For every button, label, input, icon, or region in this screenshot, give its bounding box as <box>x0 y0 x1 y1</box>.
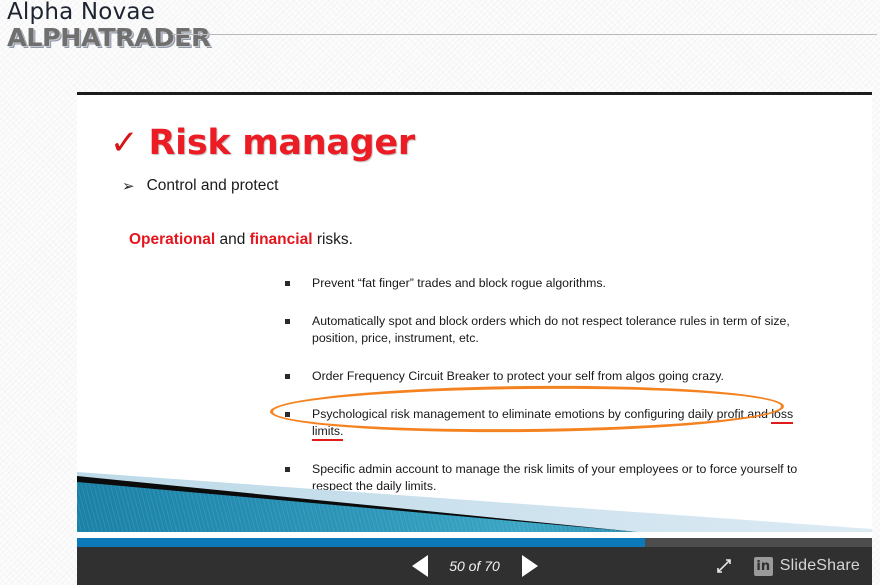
page-counter: 50 of 70 <box>446 558 504 574</box>
logo-top-text: Alpha Novae <box>7 1 206 23</box>
linkedin-icon: in <box>754 557 773 576</box>
logo-bottom-text: ALPHATRADER <box>7 25 210 50</box>
list-item-text: Prevent “fat finger” trades and block ro… <box>312 275 805 292</box>
slide-canvas[interactable]: ✓ Risk manager ➢ Control and protect Ope… <box>77 92 872 547</box>
slide-progress-fill <box>77 538 645 547</box>
previous-slide-icon[interactable] <box>412 555 428 577</box>
toolbar-right-group: in SlideShare <box>716 547 860 585</box>
list-item-text-plain: Psychological risk management to elimina… <box>312 407 771 421</box>
risks-operational: Operational <box>129 231 215 248</box>
list-item-text: Automatically spot and block orders whic… <box>312 313 805 347</box>
list-item-text: Psychological risk management to elimina… <box>312 406 805 440</box>
list-item: Automatically spot and block orders whic… <box>285 313 805 347</box>
square-bullet-icon <box>285 374 290 379</box>
slideshare-brand[interactable]: in SlideShare <box>754 557 860 576</box>
site-header: Alpha Novae ALPHATRADER <box>0 0 880 52</box>
square-bullet-icon <box>285 412 290 417</box>
brand-logo[interactable]: Alpha Novae ALPHATRADER <box>7 1 206 50</box>
header-divider <box>172 34 877 35</box>
list-item-text: Order Frequency Circuit Breaker to prote… <box>312 368 805 385</box>
list-item: Order Frequency Circuit Breaker to prote… <box>285 368 805 385</box>
slideshare-brand-name: SlideShare <box>780 557 860 575</box>
slide-decoration <box>77 467 872 547</box>
list-item: Prevent “fat finger” trades and block ro… <box>285 275 805 292</box>
slide-content: ✓ Risk manager ➢ Control and protect Ope… <box>77 95 872 547</box>
slide-subtitle: Control and protect <box>147 177 279 195</box>
fullscreen-expand-icon[interactable] <box>716 558 732 574</box>
risks-line: Operational and financial risks. <box>129 231 353 249</box>
slideshare-viewer: Alpha Novae ALPHATRADER ✓ Risk manager ➢… <box>0 0 880 585</box>
arrow-bullet-icon: ➢ <box>122 177 135 195</box>
slide-subtitle-row: ➢ Control and protect <box>122 177 278 195</box>
next-slide-icon[interactable] <box>522 555 538 577</box>
square-bullet-icon <box>285 281 290 286</box>
slide-title: Risk manager <box>149 123 415 163</box>
list-item-highlighted: Psychological risk management to elimina… <box>285 406 805 440</box>
risks-financial: financial <box>250 231 313 248</box>
slide-title-row: ✓ Risk manager <box>110 123 415 163</box>
player-toolbar: 50 of 70 in SlideShare <box>77 547 872 585</box>
risks-suffix: risks. <box>313 231 353 248</box>
risks-conjunction: and <box>215 231 249 248</box>
slide-progress-track[interactable] <box>77 538 872 547</box>
checkmark-icon: ✓ <box>110 126 139 160</box>
square-bullet-icon <box>285 319 290 324</box>
